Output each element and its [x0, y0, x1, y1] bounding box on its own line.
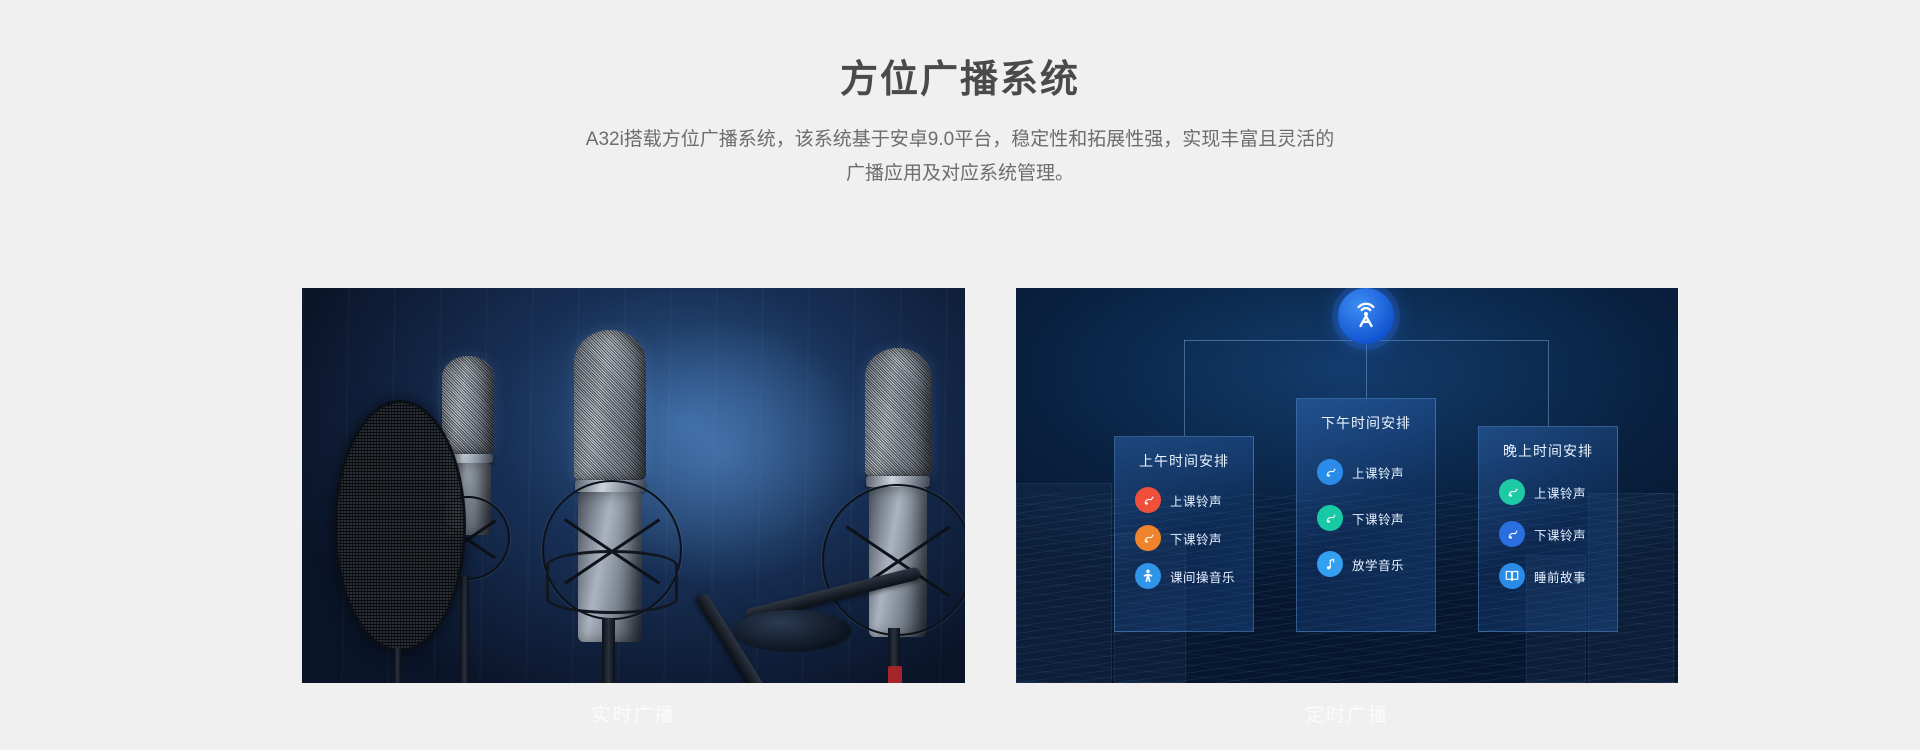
card-evening-title: 晚上时间安排	[1479, 441, 1617, 461]
card-afternoon-title: 下午时间安排	[1297, 413, 1435, 433]
mic-red-band	[888, 666, 902, 683]
page-subtitle-line-1: A32i搭载方位广播系统，该系统基于安卓9.0平台，稳定性和拓展性强，实现丰富且…	[460, 123, 1460, 156]
list-item[interactable]: 下课铃声	[1115, 519, 1253, 557]
list-item[interactable]: 放学音乐	[1297, 541, 1435, 587]
realtime-broadcast-panel[interactable]	[302, 288, 965, 683]
list-item[interactable]: 下课铃声	[1297, 495, 1435, 541]
page-subtitle-line-2: 广播应用及对应系统管理。	[460, 157, 1460, 190]
panel-captions: 实时广播 定时广播	[302, 700, 1678, 740]
list-item-label: 上课铃声	[1352, 463, 1404, 482]
bell-music-icon	[1317, 459, 1343, 485]
mic-stand-center	[602, 618, 615, 683]
person-exercise-icon	[1135, 563, 1161, 589]
book-icon	[1499, 563, 1525, 589]
card-evening-rows: 上课铃声 下课铃声	[1479, 471, 1617, 597]
bell-music-icon	[1135, 487, 1161, 513]
broadcast-schedule-diagram: 上午时间安排 上课铃声	[1016, 288, 1678, 683]
page-subtitle: A32i搭载方位广播系统，该系统基于安卓9.0平台，稳定性和拓展性强，实现丰富且…	[460, 123, 1460, 190]
list-item-label: 睡前故事	[1534, 567, 1586, 586]
bell-music-icon	[1317, 505, 1343, 531]
caption-realtime-broadcast: 实时广播	[302, 700, 965, 727]
card-morning-rows: 上课铃声 下课铃声	[1115, 481, 1253, 595]
list-item-label: 上课铃声	[1170, 491, 1222, 510]
list-item-label: 上课铃声	[1534, 483, 1586, 502]
bell-music-icon	[1135, 525, 1161, 551]
studio-microphones-image	[302, 288, 965, 683]
card-afternoon-schedule[interactable]: 下午时间安排 上课铃声	[1296, 398, 1436, 632]
list-item[interactable]: 上课铃声	[1479, 471, 1617, 513]
desk-disc	[732, 610, 852, 652]
pop-filter	[334, 400, 466, 652]
connector-vertical-left	[1184, 340, 1185, 436]
connector-vertical-right	[1548, 340, 1549, 426]
mic-stand-left	[460, 576, 469, 683]
bell-music-icon	[1499, 479, 1525, 505]
list-item[interactable]: 课间操音乐	[1115, 557, 1253, 595]
music-note-icon	[1317, 551, 1343, 577]
page-root: 方位广播系统 A32i搭载方位广播系统，该系统基于安卓9.0平台，稳定性和拓展性…	[0, 0, 1920, 750]
list-item[interactable]: 上课铃声	[1297, 449, 1435, 495]
scheduled-broadcast-panel[interactable]: 上午时间安排 上课铃声	[1016, 288, 1678, 683]
card-morning-schedule[interactable]: 上午时间安排 上课铃声	[1114, 436, 1254, 632]
pop-filter-arm	[394, 648, 401, 683]
card-morning-title: 上午时间安排	[1115, 451, 1253, 471]
list-item[interactable]: 上课铃声	[1115, 481, 1253, 519]
panels-row: 上午时间安排 上课铃声	[302, 288, 1678, 683]
caption-scheduled-broadcast: 定时广播	[1016, 700, 1678, 727]
page-title: 方位广播系统	[0, 56, 1920, 105]
broadcast-tower-icon	[1338, 288, 1394, 344]
list-item[interactable]: 下课铃声	[1479, 513, 1617, 555]
list-item-label: 下课铃声	[1352, 509, 1404, 528]
card-evening-schedule[interactable]: 晚上时间安排 上课铃声	[1478, 426, 1618, 632]
list-item-label: 下课铃声	[1534, 525, 1586, 544]
city-silhouette-1	[1016, 483, 1112, 683]
page-header: 方位广播系统 A32i搭载方位广播系统，该系统基于安卓9.0平台，稳定性和拓展性…	[0, 0, 1920, 190]
bell-music-icon	[1499, 521, 1525, 547]
connector-vertical-center	[1366, 340, 1367, 398]
list-item-label: 放学音乐	[1352, 555, 1404, 574]
shock-mount-right	[822, 484, 965, 636]
card-afternoon-rows: 上课铃声 下课铃声	[1297, 443, 1435, 587]
list-item-label: 下课铃声	[1170, 529, 1222, 548]
list-item-label: 课间操音乐	[1170, 567, 1235, 586]
list-item[interactable]: 睡前故事	[1479, 555, 1617, 597]
shock-mount-ring-center	[546, 550, 678, 614]
